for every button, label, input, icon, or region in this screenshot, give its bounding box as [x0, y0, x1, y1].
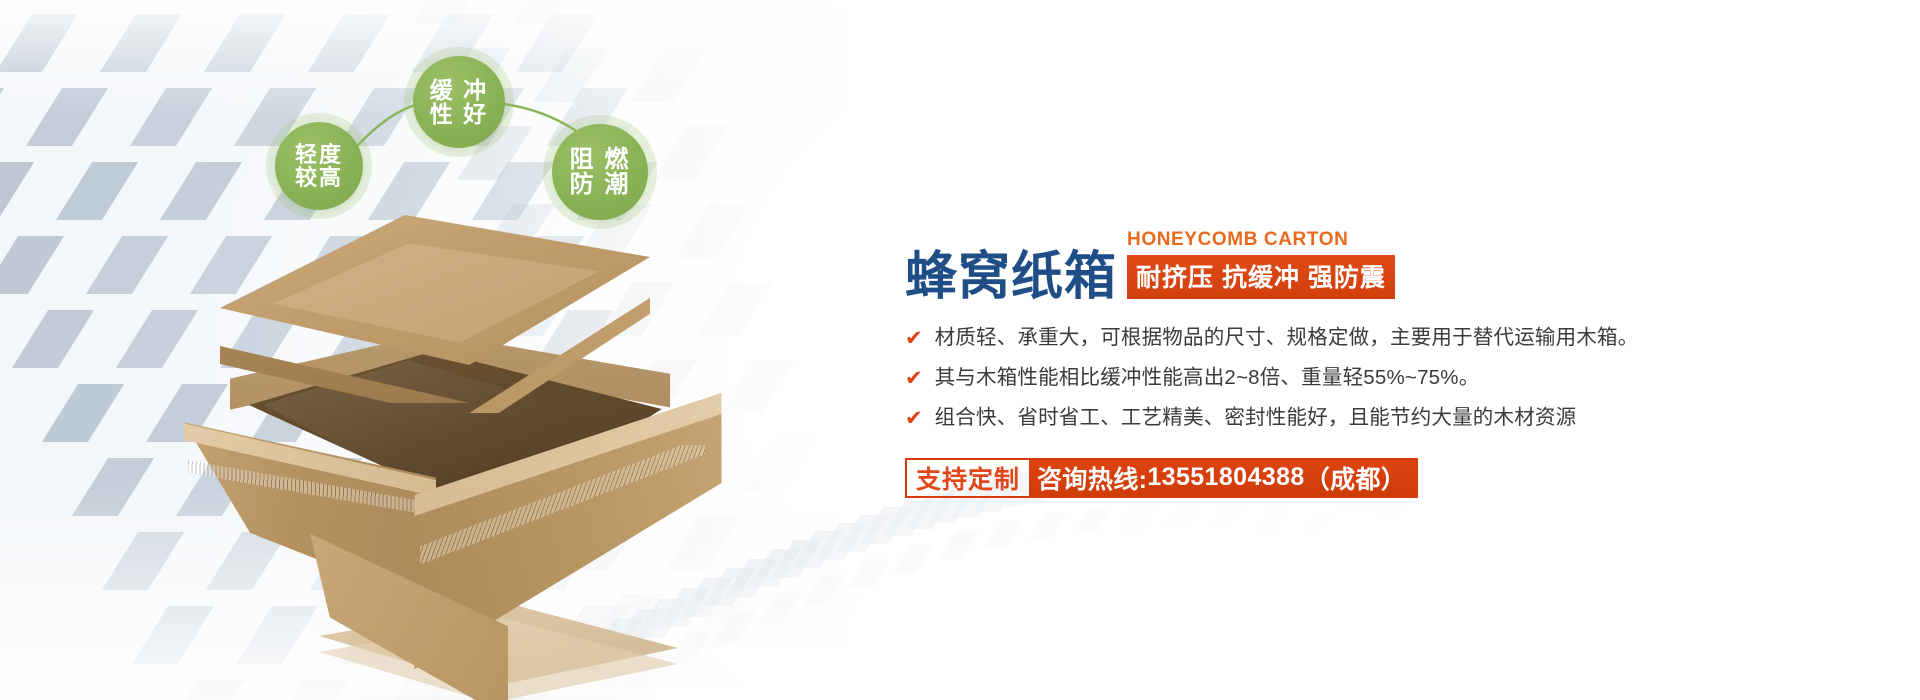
- badge-cushioning-line1: 缓 冲: [430, 78, 488, 102]
- badge-flame-retardant: 阻 燃 防 潮: [552, 124, 648, 220]
- banner-stage: 轻度 较高 缓 冲 性 好 阻 燃 防 潮 蜂窝纸箱 HONEYCOMB CAR…: [0, 0, 1920, 700]
- feature-bullet-list: ✔ 材质轻、承重大，可根据物品的尺寸、规格定做，主要用于替代运输用木箱。 ✔ 其…: [905, 325, 1865, 433]
- hotline-box[interactable]: 支持定制 咨询热线: 13551804388 （成都）: [905, 458, 1418, 498]
- stripe-parallelogram: [1118, 503, 1157, 530]
- stripe-parallelogram: [848, 559, 890, 588]
- stripe-parallelogram: [803, 575, 846, 605]
- hotline-number-block[interactable]: 咨询热线: 13551804388 （成都）: [1029, 460, 1416, 496]
- stripe-parallelogram: [162, 680, 244, 700]
- hotline-city: （成都）: [1305, 460, 1407, 496]
- stripe-parallelogram: [72, 458, 154, 516]
- banner-text-panel: 蜂窝纸箱 HONEYCOMB CARTON 耐挤压 抗缓冲 强防震 ✔ 材质轻、…: [905, 228, 1865, 498]
- stripe-parallelogram: [1568, 588, 1601, 611]
- stripe-parallelogram: [266, 680, 348, 700]
- list-item: ✔ 材质轻、承重大，可根据物品的尺寸、规格定做，主要用于替代运输用木箱。: [905, 325, 1865, 352]
- stripe-parallelogram: [1298, 513, 1334, 538]
- bullet-text: 其与木箱性能相比缓冲性能高出2~8倍、重量轻55%~75%。: [935, 365, 1480, 392]
- badge-flame-retardant-line2: 防 潮: [570, 172, 631, 197]
- stripe-parallelogram: [1478, 557, 1512, 580]
- badge-lightweight-line1: 轻度: [295, 143, 343, 166]
- stripe-parallelogram: [1163, 502, 1201, 528]
- stripe-parallelogram: [938, 531, 979, 560]
- tagline-banner: 耐挤压 抗缓冲 强防震: [1127, 255, 1395, 299]
- check-icon: ✔: [905, 325, 923, 352]
- bullet-text: 组合快、省时省工、工艺精美、密封性能好，且能节约大量的木材资源: [935, 405, 1577, 432]
- stripe-parallelogram: [713, 612, 757, 643]
- badge-lightweight: 轻度 较高: [275, 122, 363, 210]
- stripe-parallelogram: [1388, 531, 1423, 555]
- badge-cushioning: 缓 冲 性 好: [413, 56, 505, 148]
- badge-cushioning-line2: 性 好: [430, 102, 488, 126]
- title-side-stack: HONEYCOMB CARTON 耐挤压 抗缓冲 强防震: [1127, 228, 1395, 303]
- list-item: ✔ 其与木箱性能相比缓冲性能高出2~8倍、重量轻55%~75%。: [905, 365, 1865, 392]
- hotline-phone[interactable]: 13551804388: [1147, 463, 1304, 492]
- english-subtitle: HONEYCOMB CARTON: [1127, 228, 1395, 252]
- stripe-parallelogram: [1208, 503, 1246, 529]
- stripe-parallelogram: [893, 544, 934, 573]
- badge-lightweight-line2: 较高: [295, 166, 343, 189]
- stripe-parallelogram: [1433, 543, 1468, 567]
- feature-badge-group: 轻度 较高 缓 冲 性 好 阻 燃 防 潮: [0, 0, 900, 300]
- hotline-label: 咨询热线:: [1037, 460, 1147, 496]
- stripe-parallelogram: [983, 521, 1023, 549]
- bullet-text: 材质轻、承重大，可根据物品的尺寸、规格定做，主要用于替代运输用木箱。: [935, 325, 1639, 352]
- title-row: 蜂窝纸箱 HONEYCOMB CARTON 耐挤压 抗缓冲 强防震: [905, 228, 1865, 303]
- badge-flame-retardant-line1: 阻 燃: [570, 147, 631, 172]
- stripe-parallelogram: [1253, 507, 1290, 533]
- check-icon: ✔: [905, 365, 923, 392]
- stripe-parallelogram: [12, 310, 94, 368]
- stripe-parallelogram: [1028, 512, 1068, 540]
- list-item: ✔ 组合快、省时省工、工艺精美、密封性能好，且能节约大量的木材资源: [905, 405, 1865, 432]
- custom-order-label: 支持定制: [907, 460, 1029, 496]
- stripe-parallelogram: [1073, 506, 1112, 533]
- check-icon: ✔: [905, 405, 923, 432]
- stripe-parallelogram: [1523, 572, 1557, 595]
- stripe-parallelogram: [1343, 521, 1379, 546]
- page-title: 蜂窝纸箱: [905, 251, 1117, 303]
- stripe-parallelogram: [42, 384, 124, 442]
